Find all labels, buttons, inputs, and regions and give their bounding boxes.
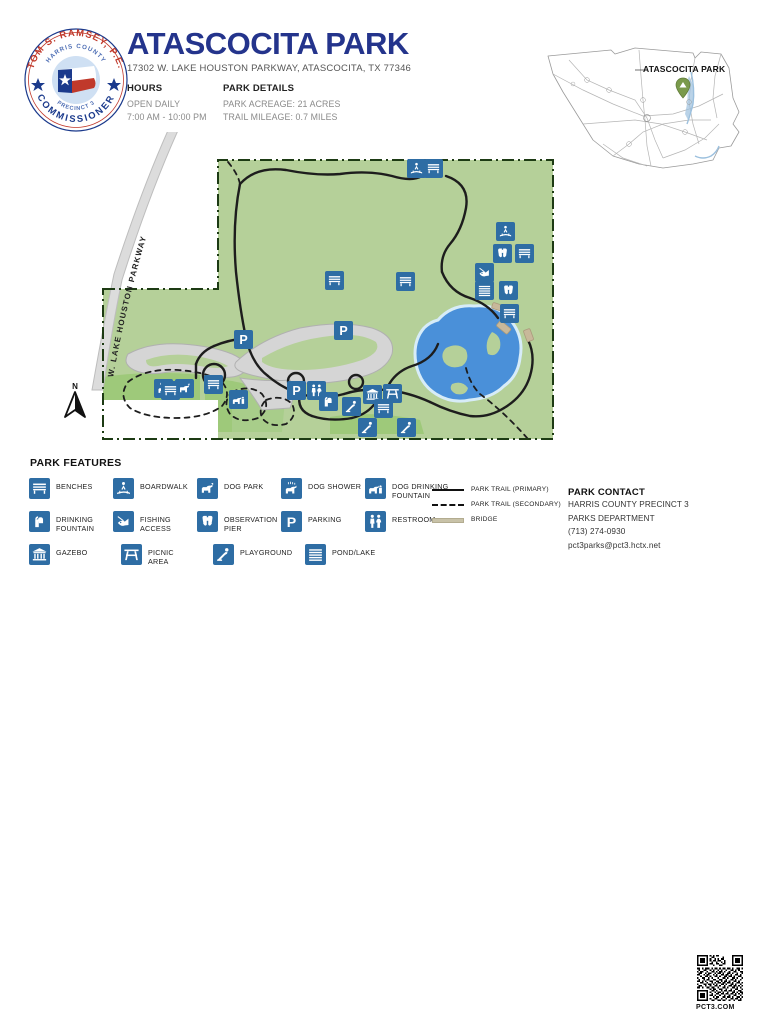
legend-item-label: FISHINGACCESS — [140, 516, 171, 533]
legend-item-gazebo: GAZEBO — [29, 544, 121, 565]
map-marker-benches[interactable] — [161, 381, 180, 400]
drinking-fountain-icon — [29, 511, 50, 532]
observation-pier-icon — [197, 511, 218, 532]
contact-phone[interactable]: (713) 274-0930 — [568, 525, 768, 539]
map-marker-benches[interactable] — [500, 304, 519, 323]
legend-row: BENCHESBOARDWALKDOG PARKDOG SHOWERDOG DR… — [29, 478, 449, 511]
map-marker-parking[interactable] — [287, 381, 306, 400]
legend-row: DRINKINGFOUNTAINFISHINGACCESSOBSERVATION… — [29, 511, 449, 544]
trail-legend-item-bridge: BRIDGE — [432, 512, 572, 527]
legend-item-label: GAZEBO — [56, 549, 87, 558]
qr-code-label: PCT3.COM — [696, 1004, 735, 1011]
fishing-access-icon — [113, 511, 134, 532]
contact-email[interactable]: pct3parks@pct3.hctx.net — [568, 539, 768, 553]
trail-swatch-dashed — [432, 500, 464, 510]
playground-icon — [213, 544, 234, 565]
trail-legend-label: PARK TRAIL (PRIMARY) — [471, 486, 549, 493]
parking-icon — [281, 511, 302, 532]
map-marker-parking[interactable] — [234, 330, 253, 349]
legend-panel: PARK FEATURES BENCHESBOARDWALKDOG PARKDO… — [0, 452, 768, 593]
pond-lake-icon — [305, 544, 326, 565]
trail-mileage: TRAIL MILEAGE: 0.7 MILES — [223, 111, 340, 124]
dog-park-icon — [197, 478, 218, 499]
trail-legend-item-solid: PARK TRAIL (PRIMARY) — [432, 482, 572, 497]
legend-item-parking: PARKING — [281, 511, 365, 532]
map-marker-benches[interactable] — [204, 375, 223, 394]
map-marker-playground[interactable] — [397, 418, 416, 437]
map-marker-drinking-fountain[interactable] — [319, 392, 338, 411]
legend-item-label: RESTROOM — [392, 516, 436, 525]
park-details-heading: PARK DETAILS — [223, 83, 340, 94]
benches-icon — [29, 478, 50, 499]
trail-swatch-bridge — [432, 515, 464, 525]
contact-line: HARRIS COUNTY PRECINCT 3 — [568, 498, 768, 512]
trail-legend-list: PARK TRAIL (PRIMARY)PARK TRAIL (SECONDAR… — [432, 482, 572, 527]
legend-item-label: PARKING — [308, 516, 342, 525]
legend-title: PARK FEATURES — [30, 457, 122, 469]
legend-item-benches: BENCHES — [29, 478, 113, 499]
north-label: N — [72, 382, 78, 391]
hours-line: 7:00 AM - 10:00 PM — [127, 111, 223, 124]
map-marker-parking[interactable] — [334, 321, 353, 340]
map-marker-dog-drinking-fountain[interactable] — [229, 390, 248, 409]
restroom-icon — [365, 511, 386, 532]
park-address: 17302 W. LAKE HOUSTON PARKWAY, ATASCOCIT… — [127, 63, 457, 74]
qr-code[interactable] — [697, 955, 743, 1001]
commissioner-seal-logo: TOM S. RAMSEY, P.E. COMMISSIONER HARRIS … — [22, 26, 130, 134]
legend-item-observation-pier: OBSERVATIONPIER — [197, 511, 281, 533]
map-marker-benches[interactable] — [374, 399, 393, 418]
legend-item-picnic-area: PICNICAREA — [121, 544, 213, 566]
map-marker-benches[interactable] — [396, 272, 415, 291]
hours-column: HOURS OPEN DAILY 7:00 AM - 10:00 PM — [127, 83, 223, 124]
legend-item-boardwalk: BOARDWALK — [113, 478, 197, 499]
legend-row: GAZEBOPICNICAREAPLAYGROUNDPOND/LAKE — [29, 544, 449, 577]
map-marker-fishing-access[interactable] — [475, 263, 494, 282]
legend-item-label: DRINKINGFOUNTAIN — [56, 516, 94, 533]
legend-item-dog-shower: DOG SHOWER — [281, 478, 365, 499]
title-block: ATASCOCITA PARK 17302 W. LAKE HOUSTON PA… — [127, 26, 457, 124]
boardwalk-icon — [113, 478, 134, 499]
park-features-list: BENCHESBOARDWALKDOG PARKDOG SHOWERDOG DR… — [29, 478, 449, 577]
legend-item-fishing-access: FISHINGACCESS — [113, 511, 197, 533]
map-marker-benches[interactable] — [515, 244, 534, 263]
map-marker-playground[interactable] — [358, 418, 377, 437]
contact-line: PARKS DEPARTMENT — [568, 512, 768, 526]
north-arrow: N — [58, 378, 92, 420]
map-marker-benches[interactable] — [424, 159, 443, 178]
picnic-area-icon — [121, 544, 142, 565]
legend-item-drinking-fountain: DRINKINGFOUNTAIN — [29, 511, 113, 533]
map-marker-observation-pier[interactable] — [493, 244, 512, 263]
page-title: ATASCOCITA PARK — [127, 26, 457, 62]
legend-item-dog-park: DOG PARK — [197, 478, 281, 499]
map-marker-playground[interactable] — [342, 397, 361, 416]
dog-shower-icon — [281, 478, 302, 499]
gazebo-icon — [29, 544, 50, 565]
map-marker-boardwalk[interactable] — [496, 222, 515, 241]
legend-item-label: DOG PARK — [224, 483, 263, 492]
trail-legend-label: PARK TRAIL (SECONDARY) — [471, 501, 561, 508]
hours-heading: HOURS — [127, 83, 223, 94]
hours-line: OPEN DAILY — [127, 98, 223, 111]
legend-item-label: PLAYGROUND — [240, 549, 292, 558]
trail-legend-label: BRIDGE — [471, 516, 497, 523]
inset-map-label: ATASCOCITA PARK — [643, 64, 725, 74]
park-contact-block: PARK CONTACT HARRIS COUNTY PRECINCT 3 PA… — [568, 487, 768, 552]
map-marker-pond-lake[interactable] — [475, 281, 494, 300]
trail-legend-item-dashed: PARK TRAIL (SECONDARY) — [432, 497, 572, 512]
legend-item-pond-lake: POND/LAKE — [305, 544, 397, 565]
map-marker-boardwalk[interactable] — [407, 159, 426, 178]
legend-item-label: BENCHES — [56, 483, 93, 492]
legend-item-label: DOG SHOWER — [308, 483, 361, 492]
legend-item-playground: PLAYGROUND — [213, 544, 305, 565]
legend-item-label: PICNICAREA — [148, 549, 174, 566]
map-marker-observation-pier[interactable] — [499, 281, 518, 300]
park-details-column: PARK DETAILS PARK ACREAGE: 21 ACRES TRAI… — [223, 83, 340, 124]
legend-item-label: BOARDWALK — [140, 483, 188, 492]
legend-item-label: POND/LAKE — [332, 549, 375, 558]
trail-swatch-solid — [432, 485, 464, 495]
map-marker-benches[interactable] — [325, 271, 344, 290]
contact-title: PARK CONTACT — [568, 487, 768, 498]
dog-drinking-fountain-icon — [365, 478, 386, 499]
park-acreage: PARK ACREAGE: 21 ACRES — [223, 98, 340, 111]
legend-item-label: OBSERVATIONPIER — [224, 516, 277, 533]
